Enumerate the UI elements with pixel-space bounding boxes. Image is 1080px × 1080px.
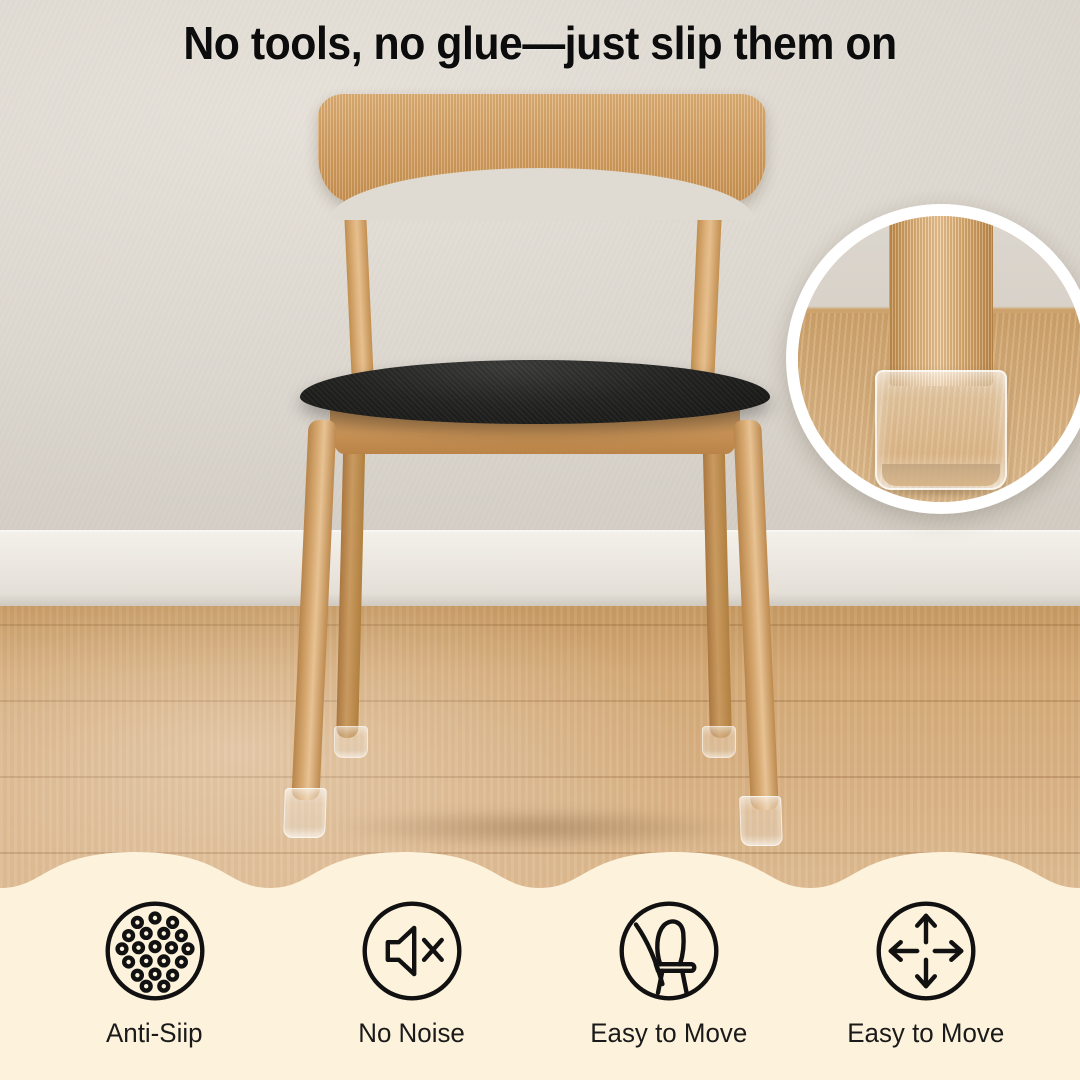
page-title: No tools, no glue—just slip them on [38, 16, 1042, 70]
feature-label: Easy to Move [590, 1018, 747, 1049]
chair-leg-back-left [336, 420, 366, 738]
feature-list: Anti-Siip No Noise Easy to Mov [0, 896, 1080, 1080]
inset-leg-grain [889, 210, 993, 386]
feature-label: Easy to Move [847, 1018, 1004, 1049]
feature-item-easy-to-move-arrows[interactable]: Easy to Move [816, 896, 1036, 1049]
chair-leg-back-right [702, 420, 732, 738]
feature-label: No Noise [358, 1018, 465, 1049]
leg-cap-front-right [739, 796, 783, 846]
feature-item-easy-to-move-chair[interactable]: Easy to Move [559, 896, 779, 1049]
inset-cap-base [882, 464, 1000, 486]
mute-speaker-icon [357, 896, 467, 1006]
inset-chair-leg [889, 210, 993, 386]
chair-glide-icon [614, 896, 724, 1006]
feature-bar: Anti-Siip No Noise Easy to Mov [0, 848, 1080, 1080]
chair-leg-front-left [291, 420, 336, 800]
product-marketing-image: No tools, no glue—just slip them on [0, 0, 1080, 1080]
feature-label: Anti-Siip [106, 1018, 203, 1049]
chair-leg-front-right [733, 420, 779, 810]
leg-cap-closeup-inset [786, 204, 1080, 514]
feature-item-no-noise[interactable]: No Noise [302, 896, 522, 1049]
feature-item-anti-slip[interactable]: Anti-Siip [45, 896, 265, 1049]
four-way-arrows-icon [871, 896, 981, 1006]
leg-cap-back-left [334, 726, 368, 758]
leg-cap-back-right [702, 726, 736, 758]
leg-cap-front-left [283, 788, 327, 838]
anti-slip-dots-icon [100, 896, 210, 1006]
inset-silicone-cap [875, 370, 1007, 490]
